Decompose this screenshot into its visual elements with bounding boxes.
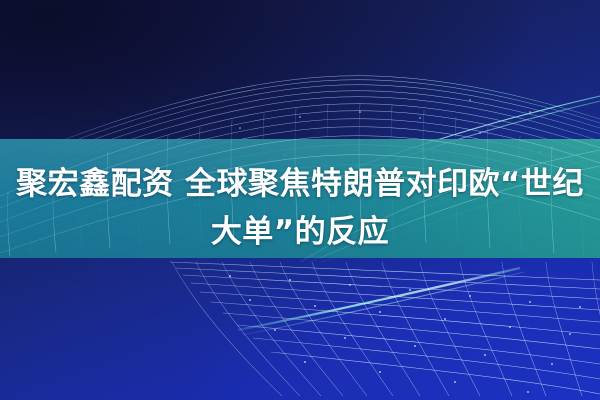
banner-headline: 聚宏鑫配资 全球聚焦特朗普对印欧“世纪大单”的反应 (0, 160, 600, 256)
banner-image: 聚宏鑫配资 全球聚焦特朗普对印欧“世纪大单”的反应 (0, 0, 600, 400)
